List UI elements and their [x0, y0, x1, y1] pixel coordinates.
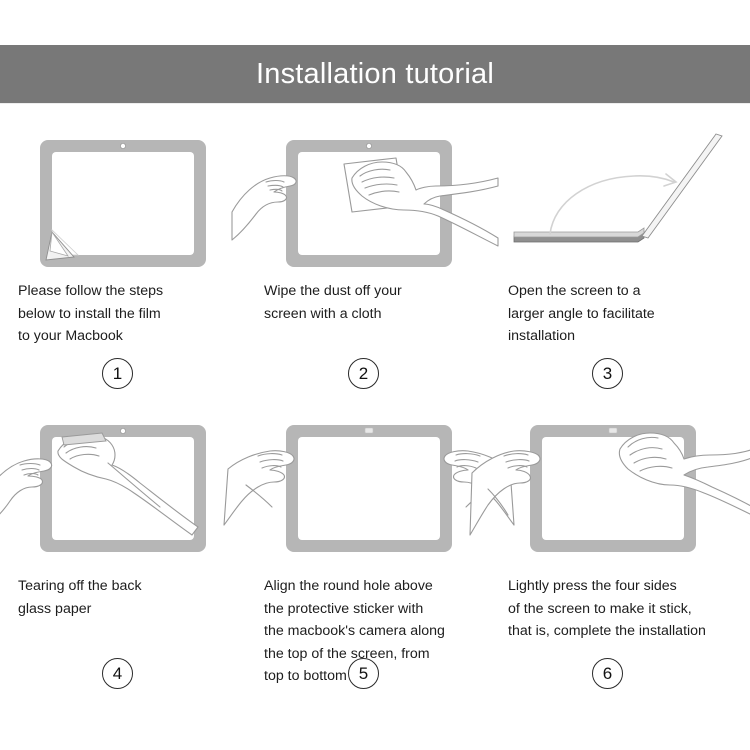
- macbook-screen-frame: [286, 425, 452, 552]
- step-number-label: 1: [113, 364, 122, 384]
- step-2-illustration: [248, 120, 498, 270]
- steps-grid: Please follow the steps below to install…: [0, 120, 750, 750]
- step-4-illustration: [2, 415, 252, 565]
- step-number-badge-2: 2: [348, 358, 379, 389]
- step-number-label: 3: [603, 364, 612, 384]
- step-6-illustration: [492, 415, 742, 565]
- step-card-2: Wipe the dust off your screen with a clo…: [248, 120, 498, 410]
- step-card-3: Open the screen to a larger angle to fac…: [492, 120, 742, 410]
- step-number-label: 6: [603, 664, 612, 684]
- step-card-5: Align the round hole above the protectiv…: [248, 415, 498, 705]
- step-number-badge-6: 6: [592, 658, 623, 689]
- step-number-badge-5: 5: [348, 658, 379, 689]
- step-3-caption: Open the screen to a larger angle to fac…: [508, 280, 736, 348]
- steps-row-bottom: Tearing off the back glass paper 4: [0, 415, 750, 705]
- step-1-caption: Please follow the steps below to install…: [18, 280, 246, 348]
- steps-row-top: Please follow the steps below to install…: [0, 120, 750, 410]
- step-number-label: 5: [359, 664, 368, 684]
- header-bar: Installation tutorial: [0, 45, 750, 103]
- step-card-6: Lightly press the four sides of the scre…: [492, 415, 742, 705]
- step-3-illustration: [492, 120, 742, 270]
- step-4-caption: Tearing off the back glass paper: [18, 575, 246, 620]
- step-card-1: Please follow the steps below to install…: [2, 120, 252, 410]
- step-number-badge-1: 1: [102, 358, 133, 389]
- step-6-caption: Lightly press the four sides of the scre…: [508, 575, 736, 643]
- step-number-label: 4: [113, 664, 122, 684]
- step-number-badge-4: 4: [102, 658, 133, 689]
- step-2-caption: Wipe the dust off your screen with a clo…: [264, 280, 492, 325]
- page-title: Installation tutorial: [256, 60, 494, 89]
- step-card-4: Tearing off the back glass paper 4: [2, 415, 252, 705]
- step-number-label: 2: [359, 364, 368, 384]
- step-number-badge-3: 3: [592, 358, 623, 389]
- laptop-side-view: [514, 134, 722, 242]
- installation-tutorial-page: Installation tutorial: [0, 0, 750, 750]
- step-5-illustration: [248, 415, 498, 565]
- step-1-illustration: [2, 120, 252, 270]
